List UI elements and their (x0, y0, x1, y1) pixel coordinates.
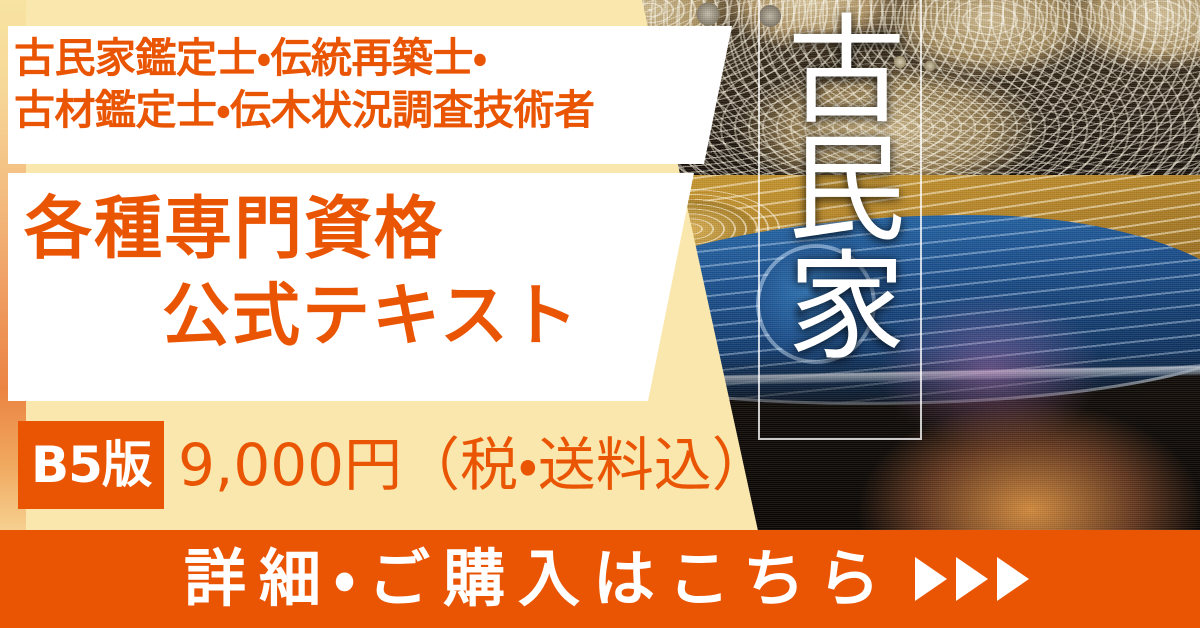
triple-arrow-icon (915, 557, 1029, 601)
arrow-right-icon-1 (915, 557, 947, 601)
cta-label: 詳細・ご購入はこちら (171, 548, 893, 610)
subhead-line-1: 各種専門資格 (14, 186, 686, 273)
arrow-right-icon-3 (997, 557, 1029, 601)
promo-banner[interactable]: 古民家 伝統構法、古民家活用のための調査と再生の 古民家鑑定士・伝統再築士・ 古… (0, 0, 1200, 628)
price-strip: B5版 9,000円（税・送料込） (0, 403, 700, 531)
subhead-line-2: 公式テキスト (14, 273, 686, 360)
arrow-right-icon-2 (956, 557, 988, 601)
price-text: 9,000円（税・送料込） (178, 425, 770, 505)
size-badge: B5版 (18, 421, 164, 509)
qualification-headline: 古民家鑑定士・伝統再築士・ 古材鑑定士・伝木状況調査技術者 (14, 33, 734, 136)
cover-title-text: 古民家 (782, 8, 902, 362)
product-subheadline: 各種専門資格 公式テキスト (14, 186, 686, 360)
headline-line-1: 古民家鑑定士・伝統再築士・ (14, 33, 734, 85)
cta-bar[interactable]: 詳細・ご購入はこちら (0, 530, 1200, 628)
headline-line-2: 古材鑑定士・伝木状況調査技術者 (14, 85, 734, 137)
